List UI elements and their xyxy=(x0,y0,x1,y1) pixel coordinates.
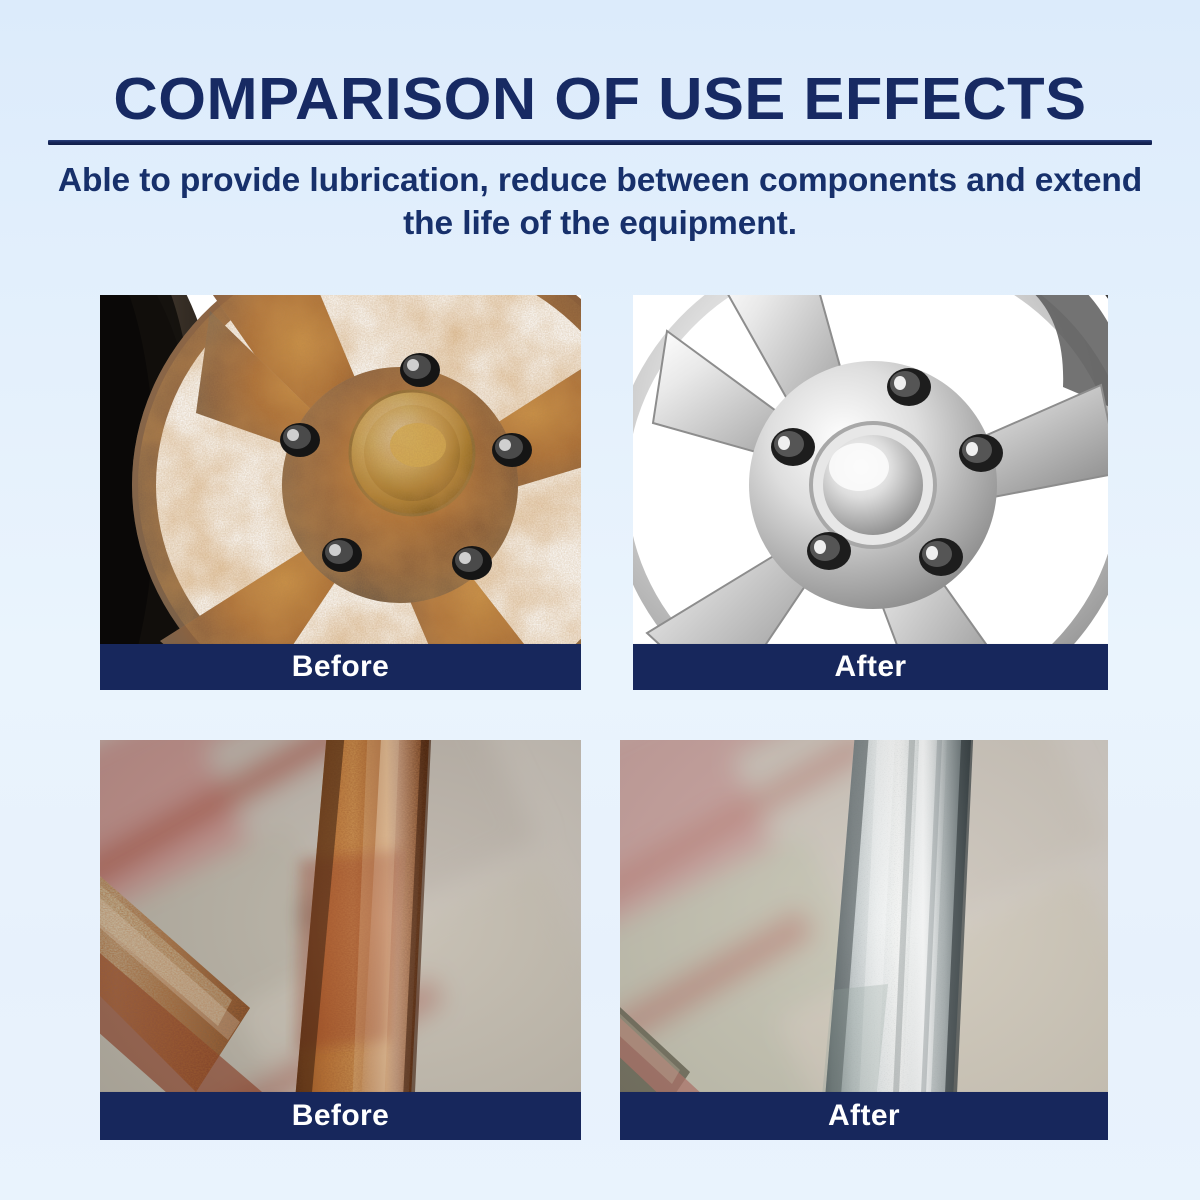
panel-label-before: Before xyxy=(100,1092,581,1140)
rusty-wheel-image xyxy=(100,295,581,690)
clean-pipe-image xyxy=(620,740,1108,1140)
clean-wheel-image xyxy=(633,295,1108,690)
rusty-pipe-image xyxy=(100,740,581,1140)
comparison-panel-after-pipe: After xyxy=(620,740,1108,1140)
panel-label-before: Before xyxy=(100,644,581,690)
comparison-panel-before-wheel: Before xyxy=(100,295,581,690)
wheel-body xyxy=(633,295,1108,690)
title-divider xyxy=(48,140,1152,145)
comparison-infographic: COMPARISON OF USE EFFECTS Able to provid… xyxy=(0,0,1200,1200)
clean-pipe-illustration xyxy=(620,740,1108,1140)
clean-wheel-illustration xyxy=(633,295,1108,690)
page-title: COMPARISON OF USE EFFECTS xyxy=(0,0,1200,129)
comparison-panel-before-pipe: Before xyxy=(100,740,581,1140)
panel-label-after: After xyxy=(633,644,1108,690)
rusty-pipe-illustration xyxy=(100,740,581,1140)
wheel-body xyxy=(132,295,581,690)
panel-label-after: After xyxy=(620,1092,1108,1140)
page-subtitle: Able to provide lubrication, reduce betw… xyxy=(50,160,1150,246)
comparison-panel-after-wheel: After xyxy=(633,295,1108,690)
header: COMPARISON OF USE EFFECTS Able to provid… xyxy=(0,0,1200,129)
rusty-wheel-illustration xyxy=(100,295,581,690)
